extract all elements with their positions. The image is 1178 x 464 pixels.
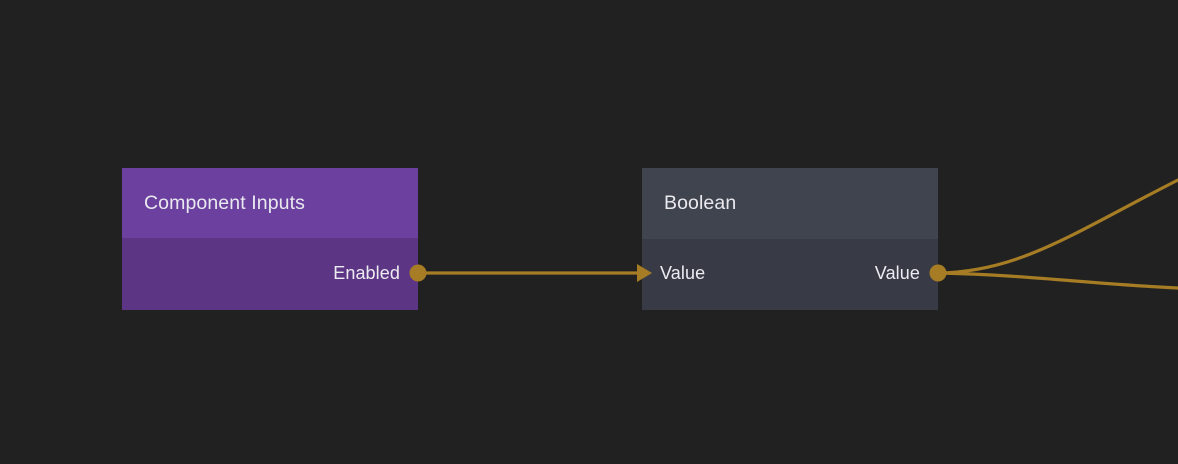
output-port-dot-value[interactable] bbox=[930, 265, 947, 282]
wire-value-out-upper[interactable] bbox=[938, 180, 1178, 273]
output-port-label-enabled: Enabled bbox=[333, 263, 400, 284]
output-port-row-enabled[interactable]: Enabled bbox=[122, 258, 418, 288]
node-graph-canvas[interactable]: Component Inputs Enabled Boolean Value V… bbox=[0, 0, 1178, 464]
node-title: Component Inputs bbox=[144, 192, 305, 215]
port-row-value[interactable]: Value Value bbox=[642, 258, 938, 288]
input-port-label-value: Value bbox=[660, 263, 705, 284]
input-port-arrow-value[interactable] bbox=[637, 264, 652, 282]
node-header[interactable]: Boolean bbox=[642, 168, 938, 239]
node-body: Value Value bbox=[642, 239, 938, 310]
node-title: Boolean bbox=[664, 192, 736, 215]
node-header[interactable]: Component Inputs bbox=[122, 168, 418, 238]
node-component-inputs[interactable]: Component Inputs Enabled bbox=[122, 168, 418, 310]
output-port-label-value: Value bbox=[875, 263, 920, 284]
wire-value-out-lower[interactable] bbox=[938, 273, 1178, 288]
output-port-dot-enabled[interactable] bbox=[410, 265, 427, 282]
node-boolean[interactable]: Boolean Value Value bbox=[642, 168, 938, 310]
node-body: Enabled bbox=[122, 238, 418, 310]
